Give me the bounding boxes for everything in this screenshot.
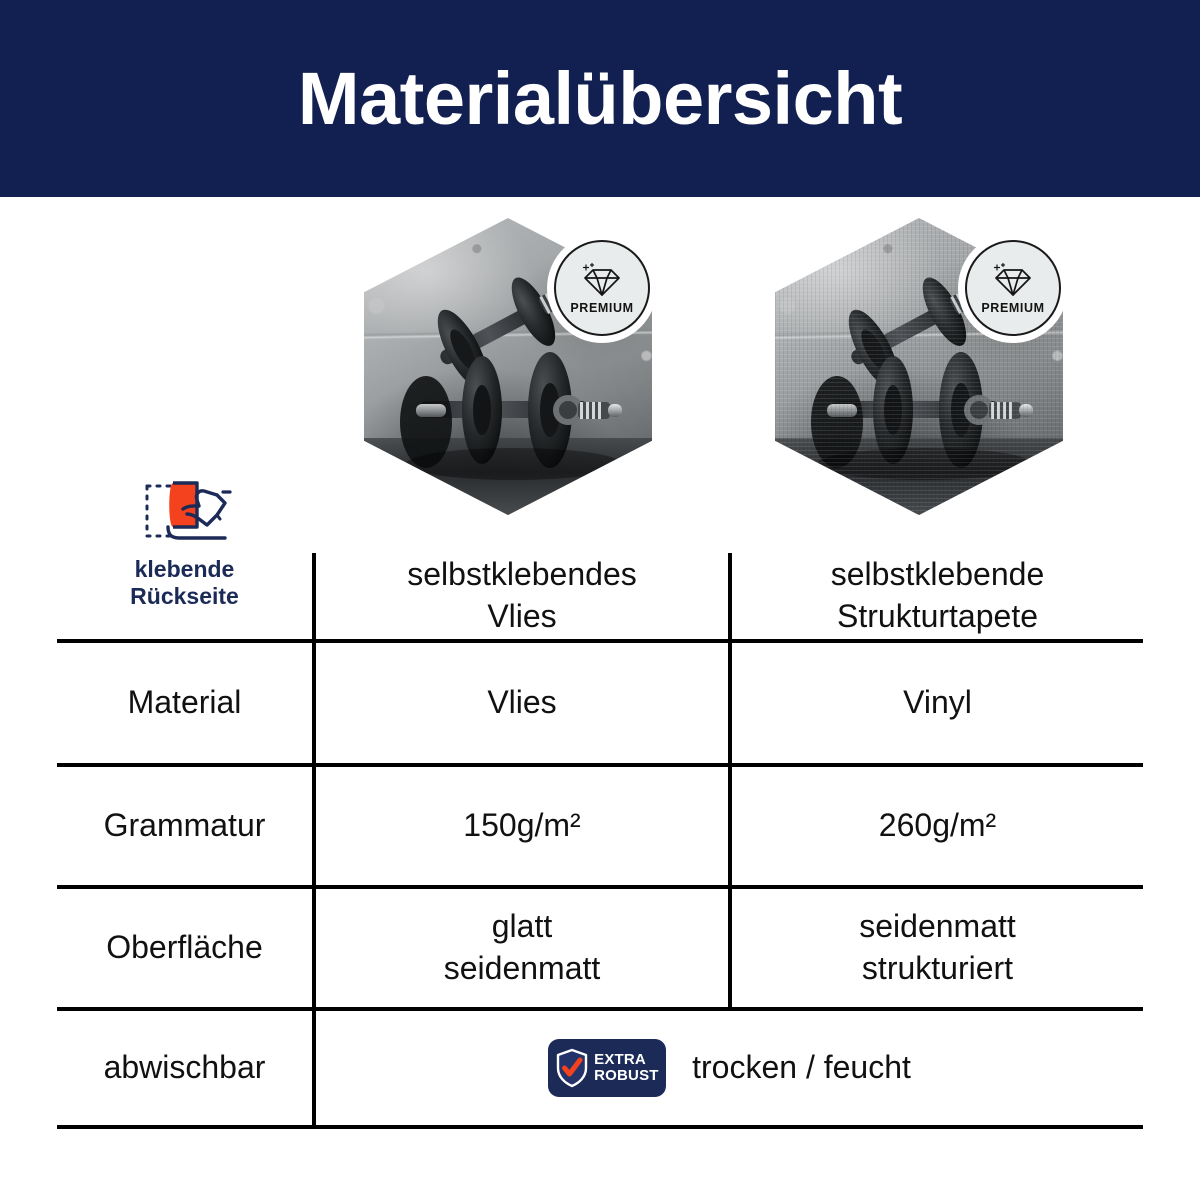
robust-badge-line2: ROBUST [594,1068,659,1084]
table-cell-grammatur-col3: 260g/m² [732,767,1143,885]
header-col3-line1: selbstklebende [831,554,1044,596]
robust-badge-line1: EXTRA [594,1052,659,1068]
table-row-label-abwischbar: abwischbar [57,1011,312,1125]
oberflaeche-col2-line1: glatt [492,906,552,948]
table-row-label-grammatur: Grammatur [57,767,312,885]
table-row-label-oberflaeche: Oberfläche [57,889,312,1007]
oberflaeche-col3-line2: strukturiert [862,948,1013,990]
table-header-col2: selbstklebendes Vlies [316,553,728,639]
table-cell-oberflaeche-col2: glatt seidenmatt [316,889,728,1007]
peel-adhesive-backing-icon [137,470,233,548]
header-col2-line1: selbstklebendes [407,554,636,596]
page-header: Materialübersicht [0,0,1200,197]
premium-badge-label: PREMIUM [981,302,1044,315]
page-title: Materialübersicht [298,62,902,136]
premium-badge: PREMIUM [554,240,650,336]
material-comparison-table: selbstklebendes Vlies selbstklebende Str… [57,553,1143,1129]
extra-robust-badge: EXTRA ROBUST [548,1039,666,1097]
table-cell-grammatur-col2: 150g/m² [316,767,728,885]
table-cell-oberflaeche-col3: seidenmatt strukturiert [732,889,1143,1007]
table-row-label-material: Material [57,643,312,763]
abwischbar-value: trocken / feucht [692,1047,911,1089]
diamond-icon [580,262,624,300]
oberflaeche-col2-line2: seidenmatt [444,948,601,990]
premium-badge-label: PREMIUM [570,302,633,315]
table-cell-material-col3: Vinyl [732,643,1143,763]
table-cell-abwischbar-merged: EXTRA ROBUST trocken / feucht [316,1011,1143,1125]
product-image-vlies: PREMIUM [364,218,652,515]
oberflaeche-col3-line1: seidenmatt [859,906,1016,948]
diamond-icon [991,262,1035,300]
shield-check-icon [555,1048,589,1088]
table-header-col3: selbstklebende Strukturtapete [732,553,1143,639]
table-rule-bottom [57,1125,1143,1129]
header-col3-line2: Strukturtapete [837,596,1038,638]
table-cell-material-col2: Vlies [316,643,728,763]
premium-badge: PREMIUM [965,240,1061,336]
material-overview-page: Materialübersicht [0,0,1200,1200]
product-image-strukturtapete: PREMIUM [775,218,1063,515]
header-col2-line2: Vlies [487,596,556,638]
